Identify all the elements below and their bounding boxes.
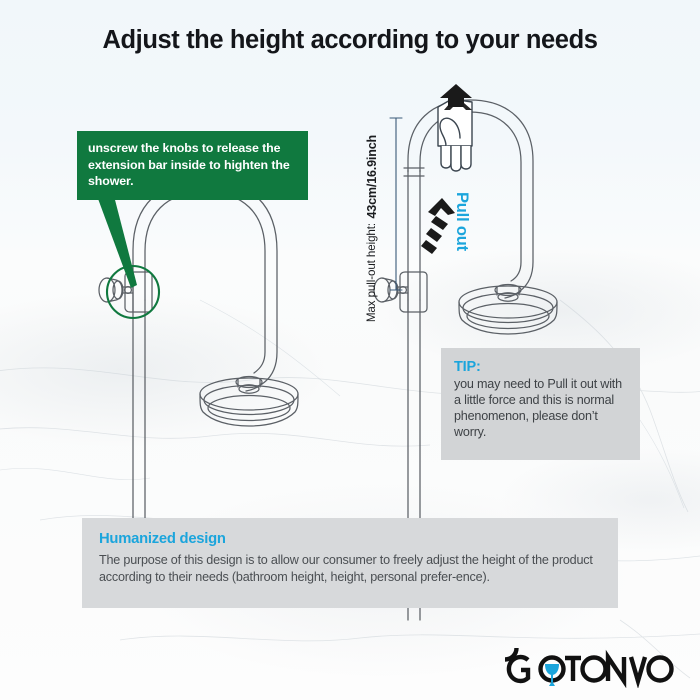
tip-body: you may need to Pull it out with a littl…	[454, 376, 627, 440]
tip-heading: TIP:	[454, 359, 627, 375]
humanized-design-panel: Humanized design The purpose of this des…	[82, 518, 618, 608]
dimension-label-line1: Max pull-out height:	[365, 223, 378, 322]
tip-box: TIP: you may need to Pull it out with a …	[441, 348, 640, 460]
brand-logo	[505, 648, 675, 688]
water-drop-icon	[545, 664, 559, 686]
page-title: Adjust the height according to your need…	[0, 26, 700, 55]
green-callout-box: unscrew the knobs to release the extensi…	[77, 131, 308, 200]
humanized-design-heading: Humanized design	[99, 531, 601, 547]
dimension-label-line2: 43cm/16.9inch	[365, 135, 379, 219]
background-marble	[0, 250, 700, 700]
green-callout-text: unscrew the knobs to release the extensi…	[88, 141, 290, 188]
humanized-design-body: The purpose of this design is to allow o…	[99, 552, 601, 585]
max-pullout-height-label: Max pull-out height: 43cm/16.9inch	[363, 135, 382, 322]
infographic-page: Adjust the height according to your need…	[0, 0, 700, 700]
pull-out-label: Pull out	[452, 192, 471, 251]
